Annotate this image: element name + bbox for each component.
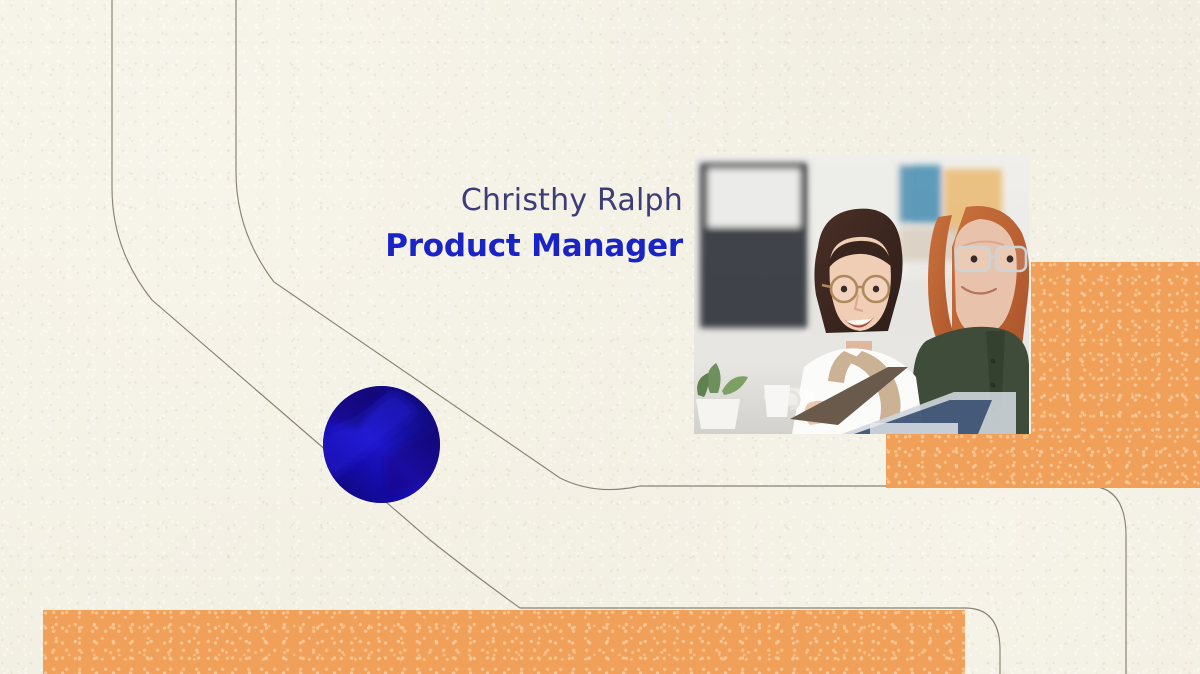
team-photo-illustration	[694, 155, 1029, 434]
person-text-block: Christhy Ralph Product Manager	[300, 182, 683, 264]
person-role: Product Manager	[300, 228, 683, 265]
slide-canvas: Christhy Ralph Product Manager	[0, 0, 1200, 674]
blue-circle-graphic	[323, 386, 440, 503]
orange-block-bottom	[43, 610, 965, 674]
blue-gradient-circle	[323, 386, 440, 503]
team-photo	[694, 155, 1029, 434]
person-name: Christhy Ralph	[300, 182, 683, 220]
orange-block-under-photo	[886, 434, 1200, 488]
